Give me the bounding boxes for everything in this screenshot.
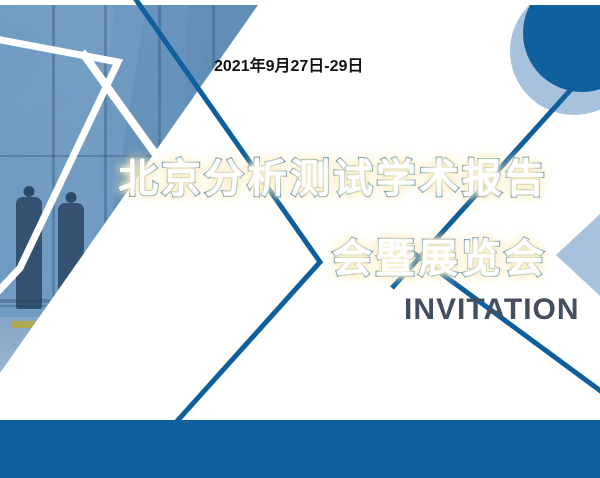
event-date: 2021年9月27日-29日: [214, 52, 363, 76]
poster-title-line-2: 会暨展览会: [332, 226, 547, 284]
poster-subtitle: INVITATION: [404, 293, 580, 327]
bottom-band-decoration: [0, 420, 600, 478]
poster-title-line-1: 北京分析测试学术报告: [118, 146, 548, 204]
invitation-poster: 2021年9月27日-29日 北京分析测试学术报告 会暨展览会 INVITATI…: [0, 0, 600, 478]
